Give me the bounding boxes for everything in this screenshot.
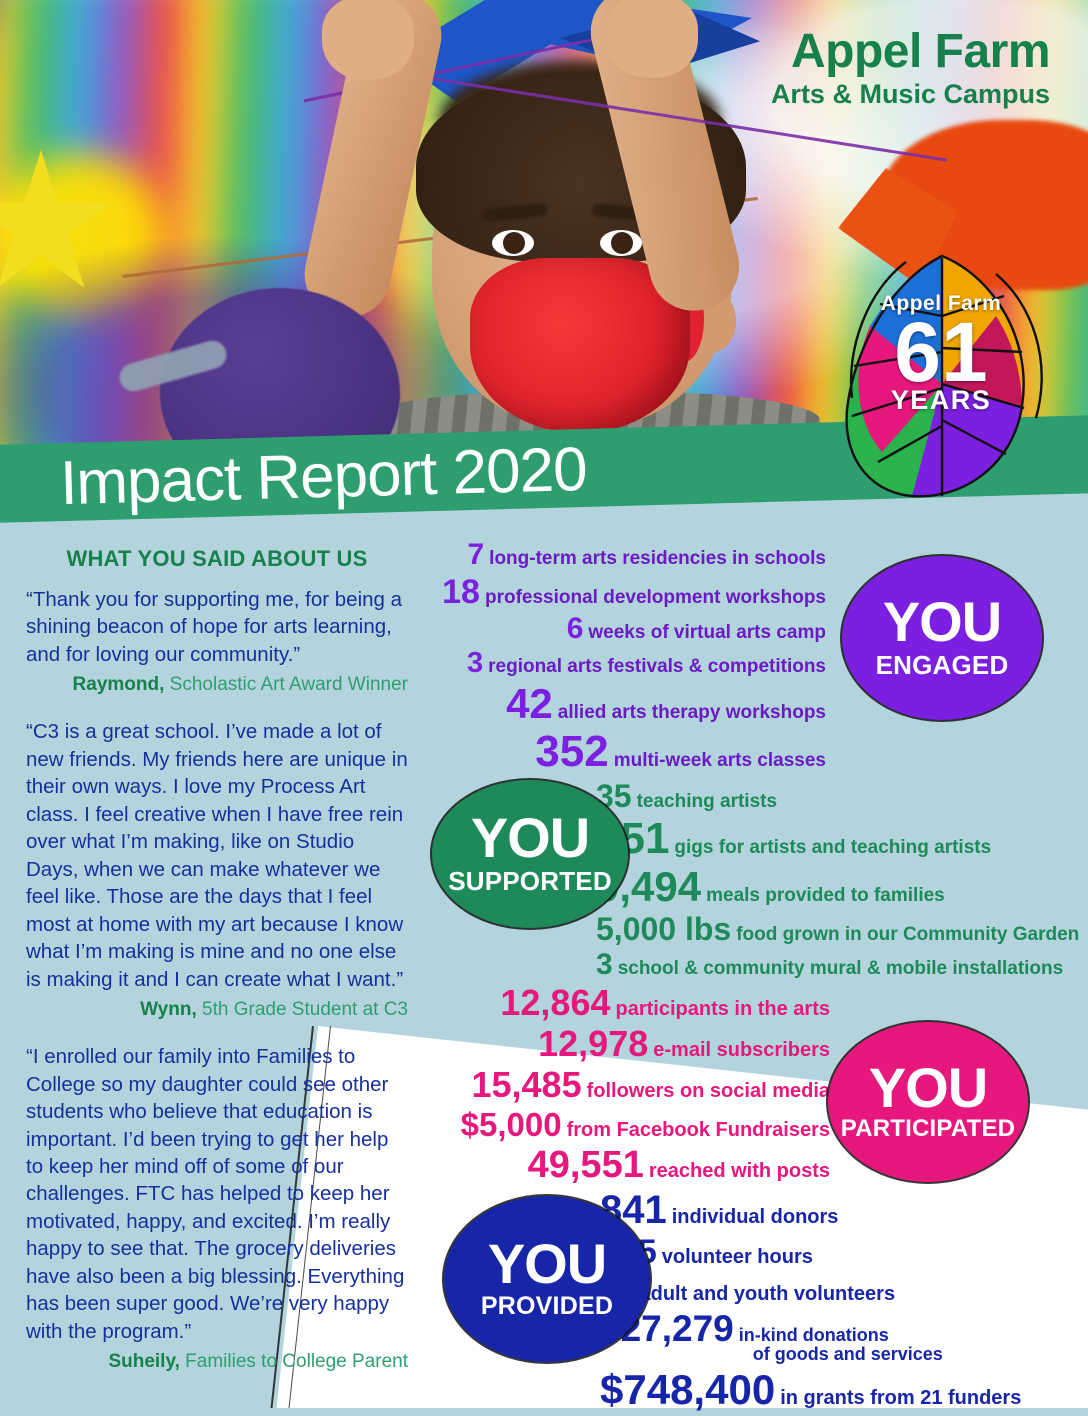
stat-label: long-term arts residencies in schools [489, 549, 826, 568]
testimonial-role: Scholastic Art Award Winner [164, 674, 408, 695]
kite-leaf-icon [838, 246, 1044, 514]
stat-row: 49,551reached with posts [470, 1146, 830, 1184]
stat-row: 7long-term arts residencies in schools [430, 540, 826, 570]
stat-row: 78adult and youth volunteers [600, 1274, 1060, 1305]
stat-row: 35teaching artists [596, 780, 1060, 812]
stat-label: volunteer hours [662, 1247, 813, 1267]
testimonial-name: Raymond, [73, 674, 165, 695]
stat-label: in-kind donationsof goods and services [739, 1326, 943, 1364]
testimonials-column: WHAT YOU SAID ABOUT US “Thank you for su… [0, 524, 430, 1408]
stat-label: gigs for artists and teaching artists [674, 838, 991, 857]
stat-row: 3school & community mural & mobile insta… [596, 950, 1060, 980]
badge-you-supported: YOU SUPPORTED [432, 780, 628, 928]
testimonial-name: Wynn, [140, 999, 197, 1020]
testimonial-name: Suheily, [108, 1351, 179, 1372]
stat-label: participants in the arts [616, 999, 831, 1019]
stat-row: $748,400in grants from 21 funders [600, 1369, 1060, 1411]
badge-you-participated: YOU PARTICIPATED [828, 1022, 1028, 1182]
stat-label: meals provided to families [706, 886, 945, 905]
logo-tagline: Arts & Music Campus [771, 78, 1050, 112]
stat-row: 42allied arts therapy workshops [430, 683, 826, 725]
stat-value: 3 [467, 649, 483, 678]
testimonial-attribution: Wynn, 5th Grade Student at C3 [26, 999, 408, 1021]
stat-label: weeks of virtual arts camp [588, 623, 826, 642]
badge-subline: PARTICIPATED [841, 1115, 1015, 1143]
stat-label: allied arts therapy workshops [558, 703, 826, 722]
badge-headline: YOU [471, 811, 589, 865]
stats-group-provided: 841individual donors535volunteer hours78… [600, 1190, 1060, 1416]
stat-row: 352multi-week arts classes [430, 730, 826, 774]
brand-logo: Appel Farm Arts & Music Campus [771, 28, 1050, 112]
badge-headline: YOU [883, 595, 1001, 649]
stat-label: teaching artists [637, 792, 777, 811]
stat-label: school & community mural & mobile instal… [618, 959, 1064, 978]
child-pupil-right [611, 232, 633, 254]
stat-value: 15,485 [471, 1067, 581, 1103]
stat-value: 5,000 lbs [596, 913, 731, 945]
anniversary-badge: Appel Farm 61 YEARS [838, 246, 1044, 514]
stat-value: 352 [535, 730, 608, 774]
testimonial-role: Families to College Parent [180, 1351, 408, 1372]
stat-label: food grown in our Community Garden [736, 925, 1079, 944]
stat-value: 6 [567, 614, 584, 644]
stat-label: in grants from 21 funders [780, 1388, 1021, 1408]
stat-value: 12,864 [500, 985, 610, 1021]
stat-row: $27,279in-kind donationsof goods and ser… [600, 1310, 1060, 1364]
testimonial-quote: “I enrolled our family into Families to … [26, 1043, 408, 1345]
stat-row: 12,864participants in the arts [470, 985, 830, 1021]
testimonial-attribution: Suheily, Families to College Parent [26, 1351, 408, 1373]
stat-row: 15,485followers on social media [470, 1067, 830, 1103]
stat-value: 18 [442, 575, 480, 609]
stat-value: 12,978 [538, 1026, 648, 1062]
stats-group-supported: 35teaching artists851gigs for artists an… [596, 780, 1060, 985]
stat-row: 535volunteer hours [600, 1235, 1060, 1269]
badge-you-engaged: YOU ENGAGED [842, 556, 1042, 720]
stat-value: 7 [467, 540, 484, 570]
stat-value: 42 [506, 683, 553, 725]
stat-value: $5,000 [461, 1108, 562, 1141]
stat-label: professional development workshops [485, 588, 826, 607]
testimonial-quote: “Thank you for supporting me, for being … [26, 586, 408, 668]
stat-label: multi-week arts classes [614, 751, 826, 770]
stat-label: followers on social media [587, 1081, 830, 1101]
stat-row: 3regional arts festivals & competitions [430, 649, 826, 678]
stat-row: 841individual donors [600, 1190, 1060, 1230]
stat-label: reached with posts [649, 1161, 830, 1181]
child-hand-left [322, 0, 414, 80]
testimonial-quote: “C3 is a great school. I’ve made a lot o… [26, 718, 408, 993]
stat-row: 9,494meals provided to families [596, 866, 1060, 908]
stat-value: 49,551 [528, 1146, 644, 1184]
stat-row: 5,000 lbsfood grown in our Community Gar… [596, 913, 1060, 945]
stat-row: 18professional development workshops [430, 575, 826, 609]
badge-subline: PROVIDED [481, 1292, 613, 1321]
stats-group-participated: 12,864participants in the arts12,978e-ma… [470, 985, 830, 1189]
stat-value: 3 [596, 950, 613, 980]
stat-label: regional arts festivals & competitions [488, 657, 826, 676]
stat-label: e-mail subscribers [653, 1040, 830, 1060]
testimonial-attribution: Raymond, Scholastic Art Award Winner [26, 674, 408, 696]
stat-label: adult and youth volunteers [639, 1284, 895, 1304]
badge-headline: YOU [488, 1237, 606, 1291]
stat-row: 851gigs for artists and teaching artists [596, 817, 1060, 861]
badge-subline: SUPPORTED [448, 866, 612, 897]
stat-row: $5,000from Facebook Fundraisers [470, 1108, 830, 1141]
stat-label: individual donors [672, 1207, 839, 1227]
stats-group-engaged: 7long-term arts residencies in schools18… [430, 540, 826, 779]
badge-subline: ENGAGED [876, 650, 1009, 681]
badge-headline: YOU [869, 1061, 987, 1115]
stat-row: 12,978e-mail subscribers [470, 1026, 830, 1062]
stat-row: 6weeks of virtual arts camp [430, 614, 826, 644]
stat-label: from Facebook Fundraisers [567, 1120, 830, 1140]
testimonial-role: 5th Grade Student at C3 [197, 999, 408, 1020]
logo-organization-name: Appel Farm [771, 28, 1050, 76]
child-pupil-left [503, 232, 525, 254]
stat-value: $748,400 [600, 1369, 775, 1411]
badge-you-provided: YOU PROVIDED [444, 1196, 650, 1362]
testimonials-heading: WHAT YOU SAID ABOUT US [26, 546, 408, 572]
child-hand-right [606, 0, 698, 78]
